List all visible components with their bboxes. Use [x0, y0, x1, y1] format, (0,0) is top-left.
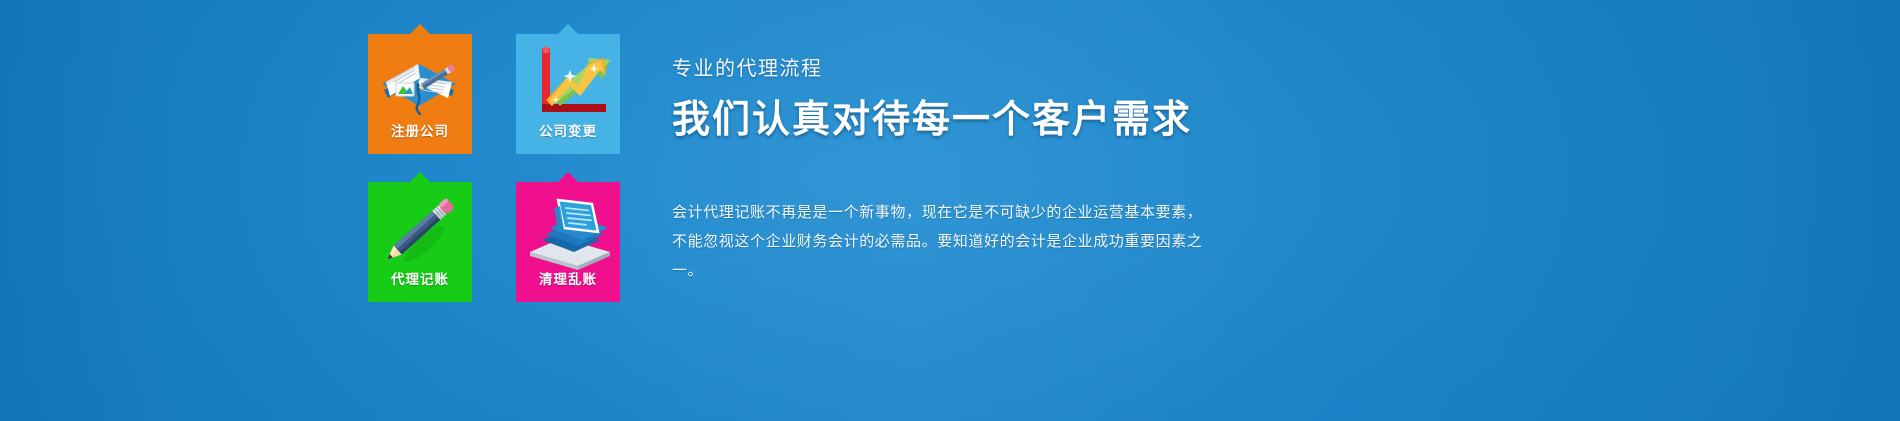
service-tile-clean-accounts[interactable]: 清理乱账 [516, 182, 620, 302]
service-tile-bookkeeping[interactable]: 代理记账 [368, 182, 472, 302]
growth-chart-arrows-icon [516, 34, 620, 126]
stacked-documents-icon [516, 182, 620, 274]
service-tile-grid: 注册公司 [368, 34, 624, 302]
tile-label: 清理乱账 [516, 274, 620, 296]
pencil-icon [368, 182, 472, 274]
banner-eyebrow: 专业的代理流程 [672, 56, 1572, 80]
banner-paragraph: 会计代理记账不再是是一个新事物，现在它是不可缺少的企业运营基本要素，不能忽视这个… [672, 198, 1217, 286]
tile-label: 注册公司 [368, 126, 472, 148]
service-tile-register-company[interactable]: 注册公司 [368, 34, 472, 154]
service-tile-company-change[interactable]: 公司变更 [516, 34, 620, 154]
promo-banner: 注册公司 [0, 0, 1900, 421]
banner-copy: 专业的代理流程 我们认真对待每一个客户需求 会计代理记账不再是是一个新事物，现在… [672, 56, 1572, 285]
tile-label: 公司变更 [516, 126, 620, 148]
open-book-with-pencil-icon [368, 34, 472, 126]
banner-headline: 我们认真对待每一个客户需求 [672, 98, 1572, 142]
tile-label: 代理记账 [368, 274, 472, 296]
